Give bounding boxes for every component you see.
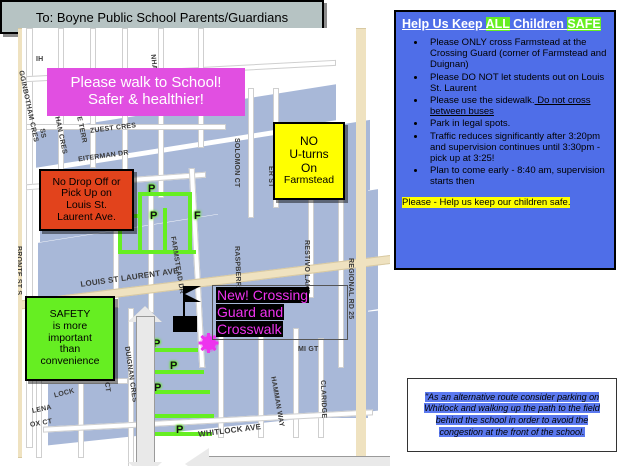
parking-route-segment <box>138 192 192 196</box>
street-label: SS <box>38 128 47 139</box>
street-label: SOLOMON CT <box>233 138 240 187</box>
parking-marker: P <box>148 183 155 195</box>
walk-banner-line2: Safer & healthier! <box>88 92 204 109</box>
no-drop-off-box: No Drop Off or Pick Up on Louis St. Laur… <box>39 169 134 231</box>
info-bullet-0: Please ONLY cross Farmstead at the Cross… <box>426 37 608 71</box>
safety-line5: convenience <box>41 356 100 368</box>
info-panel: Help Us Keep ALL Children SAFE Please ON… <box>394 10 616 270</box>
parking-marker: P <box>150 210 157 222</box>
info-panel-bullet-list: Please ONLY cross Farmstead at the Cross… <box>402 37 608 188</box>
crossing-line3: Crosswalk <box>216 321 283 337</box>
no-drop-off-line3: Louis St. <box>66 200 107 212</box>
info-title-part-1: ALL <box>486 17 510 31</box>
info-bullet-text: Please ONLY cross Farmstead at the Cross… <box>430 37 606 70</box>
parking-marker: P <box>176 424 183 436</box>
school-building-icon <box>173 316 197 332</box>
parking-route-segment <box>188 192 192 254</box>
street-label: MI GT <box>298 346 318 353</box>
parking-route-segment <box>138 192 142 254</box>
map-road <box>293 328 299 438</box>
map-arterial-road <box>356 28 366 458</box>
no-uturns-box: NO U-turns On Farmstead <box>273 122 345 200</box>
info-bullet-1: Please DO NOT let students out on Louis … <box>426 72 608 94</box>
street-label: BRONTE ST S <box>18 246 22 295</box>
school-flag-icon <box>185 286 201 302</box>
info-bullet-5: Plan to come early - 8:40 am, supervisio… <box>426 165 608 187</box>
alternate-route-arrow-shaft <box>208 456 390 466</box>
safety-line2: is more <box>53 321 87 333</box>
info-bullet-text: Park in legal spots. <box>430 118 510 129</box>
info-bullet-text: Please use the sidewalk. <box>430 95 535 106</box>
walk-to-school-banner: Please walk to School! Safer & healthier… <box>47 68 245 116</box>
no-uturns-line1: NO <box>300 135 318 148</box>
parking-marker: P <box>170 360 177 372</box>
corner-marker: F <box>194 210 201 222</box>
parking-route-segment <box>148 414 214 418</box>
no-uturns-line4: Farmstead <box>284 175 334 187</box>
alternate-route-arrow-head <box>185 448 209 466</box>
map-road <box>248 88 254 218</box>
parking-route-segment <box>118 250 196 254</box>
info-title-part-3: SAFE <box>567 17 600 31</box>
info-bullet-text: Traffic reduces significantly after 3:20… <box>430 131 600 164</box>
info-panel-footer-text: Please - Help us keep our children safe. <box>402 197 570 208</box>
route-arrow-down-head <box>128 462 162 466</box>
parking-marker: P <box>154 382 161 394</box>
info-bullet-2: Please use the sidewalk. Do not cross be… <box>426 95 608 117</box>
no-uturns-line2: U-turns <box>289 148 328 161</box>
info-title-part-0: Help Us Keep <box>402 17 486 31</box>
info-bullet-4: Traffic reduces significantly after 3:20… <box>426 131 608 165</box>
street-label: CLARIDGE <box>319 380 327 418</box>
no-drop-off-line4: Laurent Ave. <box>57 212 116 224</box>
info-panel-footer: Please - Help us keep our children safe. <box>402 197 608 208</box>
alternate-route-note-span: "As an alternative route consider parkin… <box>424 392 600 437</box>
street-label: IH <box>36 56 43 63</box>
street-label: REGIONAL RD 25 <box>347 258 354 319</box>
no-uturns-line3: On <box>301 162 317 175</box>
walk-banner-line1: Please walk to School! <box>71 75 222 92</box>
crossing-line1: New! Crossing <box>216 287 309 303</box>
route-arrow-up-shaft <box>136 316 155 466</box>
alternate-route-note-box: "As an alternative route consider parkin… <box>407 378 617 452</box>
crossing-line2: Guard and <box>216 304 284 320</box>
crossing-guard-callout: New! Crossing Guard and Crosswalk <box>216 287 346 338</box>
alternate-route-note-text: "As an alternative route consider parkin… <box>413 392 611 439</box>
info-bullet-3: Park in legal spots. <box>426 118 608 129</box>
info-bullet-text: Please DO NOT let students out on Louis … <box>430 72 604 94</box>
info-panel-title: Help Us Keep ALL Children SAFE <box>402 17 608 31</box>
info-title-part-2: Children <box>510 17 568 31</box>
safety-box: SAFETY is more important than convenienc… <box>25 296 115 381</box>
info-bullet-text: Plan to come early - 8:40 am, supervisio… <box>430 165 605 187</box>
parking-route-segment <box>163 208 167 254</box>
